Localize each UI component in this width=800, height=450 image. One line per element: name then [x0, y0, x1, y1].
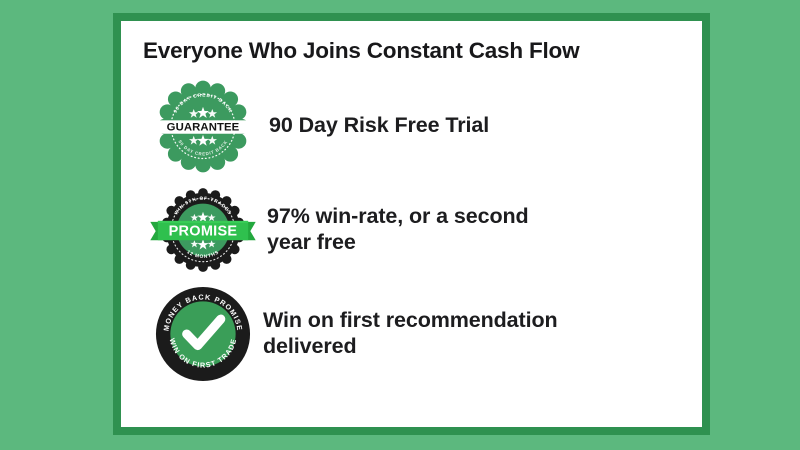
benefit-text-line: 90 Day Risk Free Trial: [269, 113, 489, 137]
benefit-text-line: 97% win-rate, or a second: [267, 204, 529, 229]
benefits-list: 90 DAY CREDIT BACK 90 DAY CREDIT BACK: [143, 74, 686, 386]
badge-slot: 90 DAY CREDIT BACK 90 DAY CREDIT BACK: [143, 74, 263, 178]
benefit-text: Win on first recommendation delivered: [263, 308, 558, 359]
badge-slot: MONEY BACK PROMISE WIN ON FIRST TRADE: [143, 282, 263, 386]
white-content-card: Everyone Who Joins Constant Cash Flow: [121, 21, 702, 427]
benefit-text-line: Win on first recommendation: [263, 308, 558, 333]
green-frame-border: Everyone Who Joins Constant Cash Flow: [113, 13, 710, 435]
benefit-row: MONEY BACK PROMISE WIN ON FIRST TRADE Wi…: [143, 282, 686, 386]
benefit-text-line: delivered: [263, 334, 558, 359]
benefit-row: WIN 97% OF TRADES 12 MONTHS: [143, 178, 686, 282]
promise-badge-label: PROMISE: [169, 223, 238, 239]
promise-ribbon-badge-icon: WIN 97% OF TRADES 12 MONTHS: [149, 180, 257, 280]
guarantee-badge-label: GUARANTEE: [167, 121, 240, 133]
money-back-checkmark-badge-icon: MONEY BACK PROMISE WIN ON FIRST TRADE: [155, 286, 251, 382]
benefit-text: 90 Day Risk Free Trial: [263, 113, 489, 138]
benefit-row: 90 DAY CREDIT BACK 90 DAY CREDIT BACK: [143, 74, 686, 178]
benefit-text-line: year free: [267, 230, 529, 255]
page-title: Everyone Who Joins Constant Cash Flow: [143, 39, 686, 64]
badge-slot: WIN 97% OF TRADES 12 MONTHS: [143, 178, 263, 282]
slide-canvas: Everyone Who Joins Constant Cash Flow: [0, 0, 800, 450]
guarantee-seal-badge-icon: 90 DAY CREDIT BACK 90 DAY CREDIT BACK: [151, 77, 255, 175]
benefit-text: 97% win-rate, or a second year free: [263, 204, 529, 255]
